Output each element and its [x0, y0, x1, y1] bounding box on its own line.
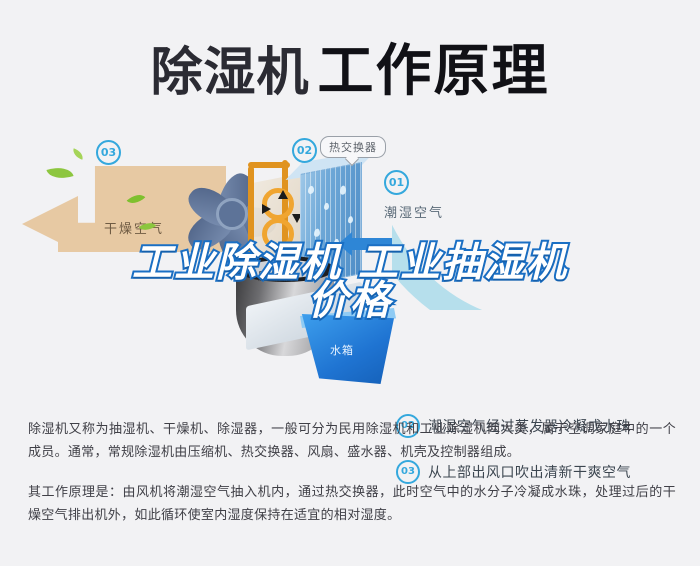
page-title: 除湿机工作原理 [0, 26, 700, 107]
leaf-icon [71, 148, 85, 160]
leaf-icon [46, 163, 73, 184]
badge-02-heat-exchanger: 02 [292, 138, 317, 163]
badge-01-humid-air: 01 [384, 170, 409, 195]
badge-03-dry-air: 03 [96, 140, 121, 165]
fan-hub [216, 198, 248, 230]
refrigerant-pipe [248, 166, 254, 262]
body-copy: 除湿机又称为抽湿机、干燥机、除湿器，一般可分为民用除湿机和工业除湿机两大类，属于… [28, 418, 676, 544]
paragraph-2: 其工作原理是：由风机将潮湿空气抽入机内，通过热交换器，此时空气中的水分子冷凝成水… [28, 481, 676, 527]
page-title-part2: 工作原理 [318, 39, 550, 104]
refrigerant-pipe [248, 162, 290, 168]
water-tank-label: 水箱 [330, 342, 354, 358]
coil-ring [262, 218, 294, 250]
dehumidifier-diagram: 干燥空气 03 [0, 118, 700, 408]
paragraph-1: 除湿机又称为抽湿机、干燥机、除湿器，一般可分为民用除湿机和工业除湿机两大类，属于… [28, 418, 676, 464]
humid-air-label: 潮湿空气 [384, 202, 444, 221]
heat-exchanger-callout: 热交换器 [320, 136, 386, 158]
dry-air-arrow-tip [22, 196, 78, 252]
page-title-part1: 除湿机 [150, 43, 309, 103]
flow-arrow-right-icon [262, 204, 271, 214]
dry-air-label: 干燥空气 [104, 218, 164, 237]
flow-arrow-up-icon [278, 190, 288, 199]
airflow-arrow-into-evaporator [352, 238, 392, 250]
compressor-label: 压缩机 [258, 268, 294, 284]
infographic-page: 除湿机工作原理 干燥空气 03 [0, 0, 700, 566]
